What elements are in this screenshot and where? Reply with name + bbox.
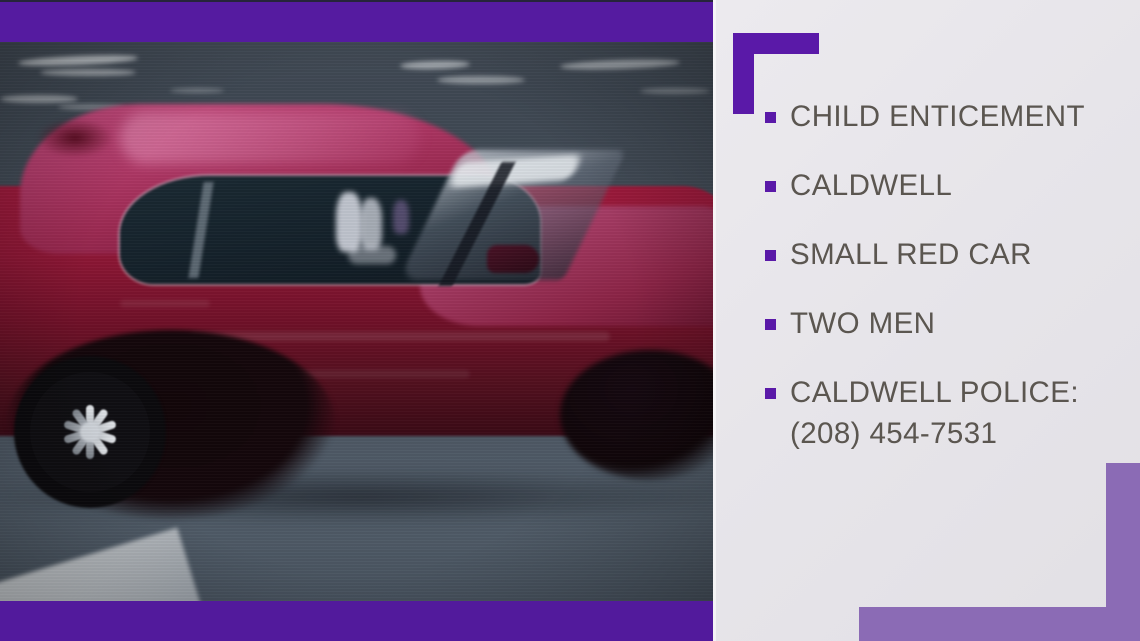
car-wheel-rim xyxy=(30,372,150,492)
bullet-square-icon xyxy=(765,181,776,192)
bullet-square-icon xyxy=(765,388,776,399)
corner-accent-shape xyxy=(1106,463,1140,607)
car-body-crease xyxy=(190,332,610,341)
car-side-mirror xyxy=(487,245,539,273)
info-panel: CHILD ENTICEMENT CALDWELL SMALL RED CAR … xyxy=(713,0,1140,641)
corner-accent-shape xyxy=(859,607,1140,641)
list-item-label: SMALL RED CAR xyxy=(790,234,1032,275)
list-item: CALDWELL POLICE: (208) 454-7531 xyxy=(765,372,1079,454)
occupant-figure xyxy=(348,246,396,264)
list-item-label: CHILD ENTICEMENT xyxy=(790,96,1085,137)
road-marking-smear xyxy=(640,88,710,94)
bullet-square-icon xyxy=(765,112,776,123)
list-item: CHILD ENTICEMENT xyxy=(765,96,1085,137)
road-marking-smear xyxy=(0,95,78,103)
list-item-label: CALDWELL xyxy=(790,165,952,206)
panel-left-edge xyxy=(713,0,716,641)
list-item: TWO MEN xyxy=(765,303,935,344)
list-item-label: TWO MEN xyxy=(790,303,935,344)
news-graphic-stage: CHILD ENTICEMENT CALDWELL SMALL RED CAR … xyxy=(0,0,1140,641)
corner-bracket-icon xyxy=(733,33,754,114)
bullet-square-icon xyxy=(765,250,776,261)
list-item: SMALL RED CAR xyxy=(765,234,1032,275)
surveillance-video-still xyxy=(0,0,713,641)
letterbox-bar-bottom xyxy=(0,601,713,641)
letterbox-top-edge xyxy=(0,0,713,2)
letterbox-bar-top xyxy=(0,2,713,42)
road-marking-smear xyxy=(437,76,525,84)
list-item: CALDWELL xyxy=(765,165,952,206)
list-item-label: CALDWELL POLICE: (208) 454-7531 xyxy=(790,372,1079,454)
car-body-crease xyxy=(120,300,210,307)
bullet-square-icon xyxy=(765,319,776,330)
occupant-figure xyxy=(336,192,362,252)
wheel-hub xyxy=(80,422,100,442)
occupant-figure xyxy=(360,198,382,250)
rear-quarter-shadow xyxy=(36,118,114,158)
occupant-figure xyxy=(393,200,409,234)
road-marking-smear xyxy=(170,88,224,93)
road-marking-smear xyxy=(40,69,136,76)
roof-highlight xyxy=(120,112,420,164)
